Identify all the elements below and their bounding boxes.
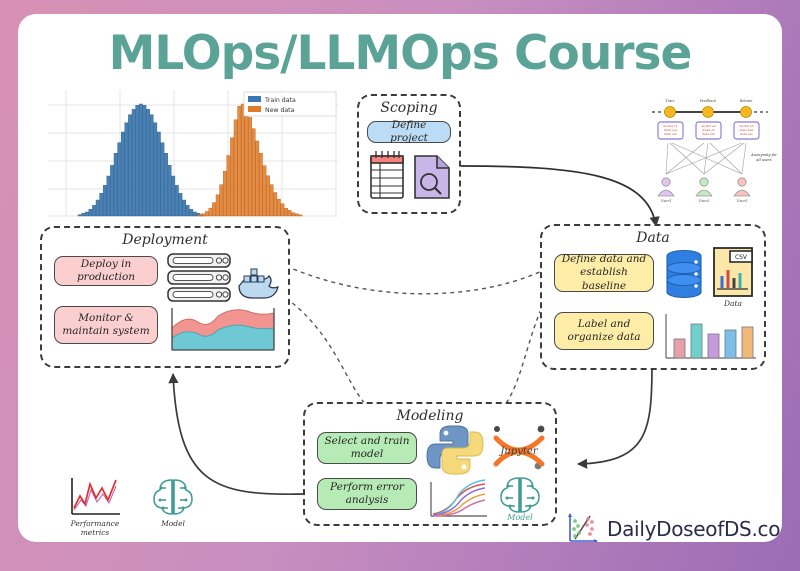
model-label-footer: Model bbox=[160, 519, 185, 528]
branding-text: DailyDoseofDS.com bbox=[607, 517, 782, 541]
jupyter-label: Jupyter bbox=[498, 446, 538, 457]
deployment-icons bbox=[166, 250, 282, 360]
scoping-step-define-project[interactable]: Define project bbox=[367, 121, 451, 143]
docker-whale-icon bbox=[239, 269, 278, 298]
scatter-plot-logo-icon bbox=[566, 512, 600, 542]
database-icon bbox=[667, 251, 701, 298]
modeling-step-select-train[interactable]: Select and train model bbox=[317, 432, 417, 464]
performance-metrics-icon bbox=[72, 478, 120, 514]
svg-text:Performance: Performance bbox=[70, 519, 120, 528]
scoping-icons bbox=[367, 148, 453, 204]
modeling-group: Modeling Select and train model Perform … bbox=[303, 402, 557, 526]
deployment-step-monitor[interactable]: Monitor & maintain system bbox=[54, 306, 158, 344]
branding[interactable]: DailyDoseofDS.com bbox=[566, 512, 782, 542]
footer-icons: Performance metrics Performance metrics … bbox=[64, 474, 224, 542]
area-chart-icon bbox=[172, 308, 274, 350]
poster-frame: MLOps/LLMOps Course Train data New data bbox=[18, 14, 782, 542]
data-step-define-baseline[interactable]: Define data and establish baseline bbox=[554, 254, 654, 292]
deployment-step-deploy[interactable]: Deploy in production bbox=[54, 256, 158, 286]
csv-document-icon: CSV bbox=[714, 248, 752, 296]
data-icons: CSV Data bbox=[662, 246, 760, 364]
arrow-deployment-to-data-upper bbox=[286, 266, 552, 294]
arrow-deployment-to-modeling bbox=[286, 298, 388, 418]
data-group: Data Define data and establish baseline … bbox=[540, 224, 766, 370]
data-title: Data bbox=[542, 230, 764, 246]
scoping-group: Scoping Define project bbox=[357, 94, 461, 214]
scoping-title: Scoping bbox=[359, 100, 459, 116]
csv-badge: CSV bbox=[735, 254, 748, 261]
deployment-group: Deployment Deploy in production Monitor … bbox=[40, 226, 290, 368]
modeling-step-error-analysis[interactable]: Perform error analysis bbox=[317, 478, 417, 510]
notepad-icon bbox=[371, 151, 403, 198]
brain-model-icon-footer bbox=[154, 480, 192, 514]
document-search-icon bbox=[415, 156, 449, 198]
arrow-scoping-to-data bbox=[460, 166, 656, 226]
modeling-icons: Jupyter Model bbox=[425, 420, 551, 520]
jupyter-logo-icon: Jupyter bbox=[494, 426, 544, 470]
model-label-modeling: Model bbox=[506, 513, 533, 522]
deployment-title: Deployment bbox=[42, 232, 288, 248]
data-step-label-organize[interactable]: Label and organize data bbox=[554, 312, 654, 350]
server-rack-icon bbox=[168, 254, 230, 301]
brain-model-icon bbox=[501, 478, 539, 512]
bar-chart-icon bbox=[666, 314, 756, 358]
line-chart-icon bbox=[431, 480, 487, 516]
python-logo-icon bbox=[427, 426, 483, 474]
svg-text:metrics: metrics bbox=[81, 528, 110, 537]
csv-caption: Data bbox=[723, 299, 742, 308]
arrow-data-to-modeling bbox=[578, 366, 652, 464]
